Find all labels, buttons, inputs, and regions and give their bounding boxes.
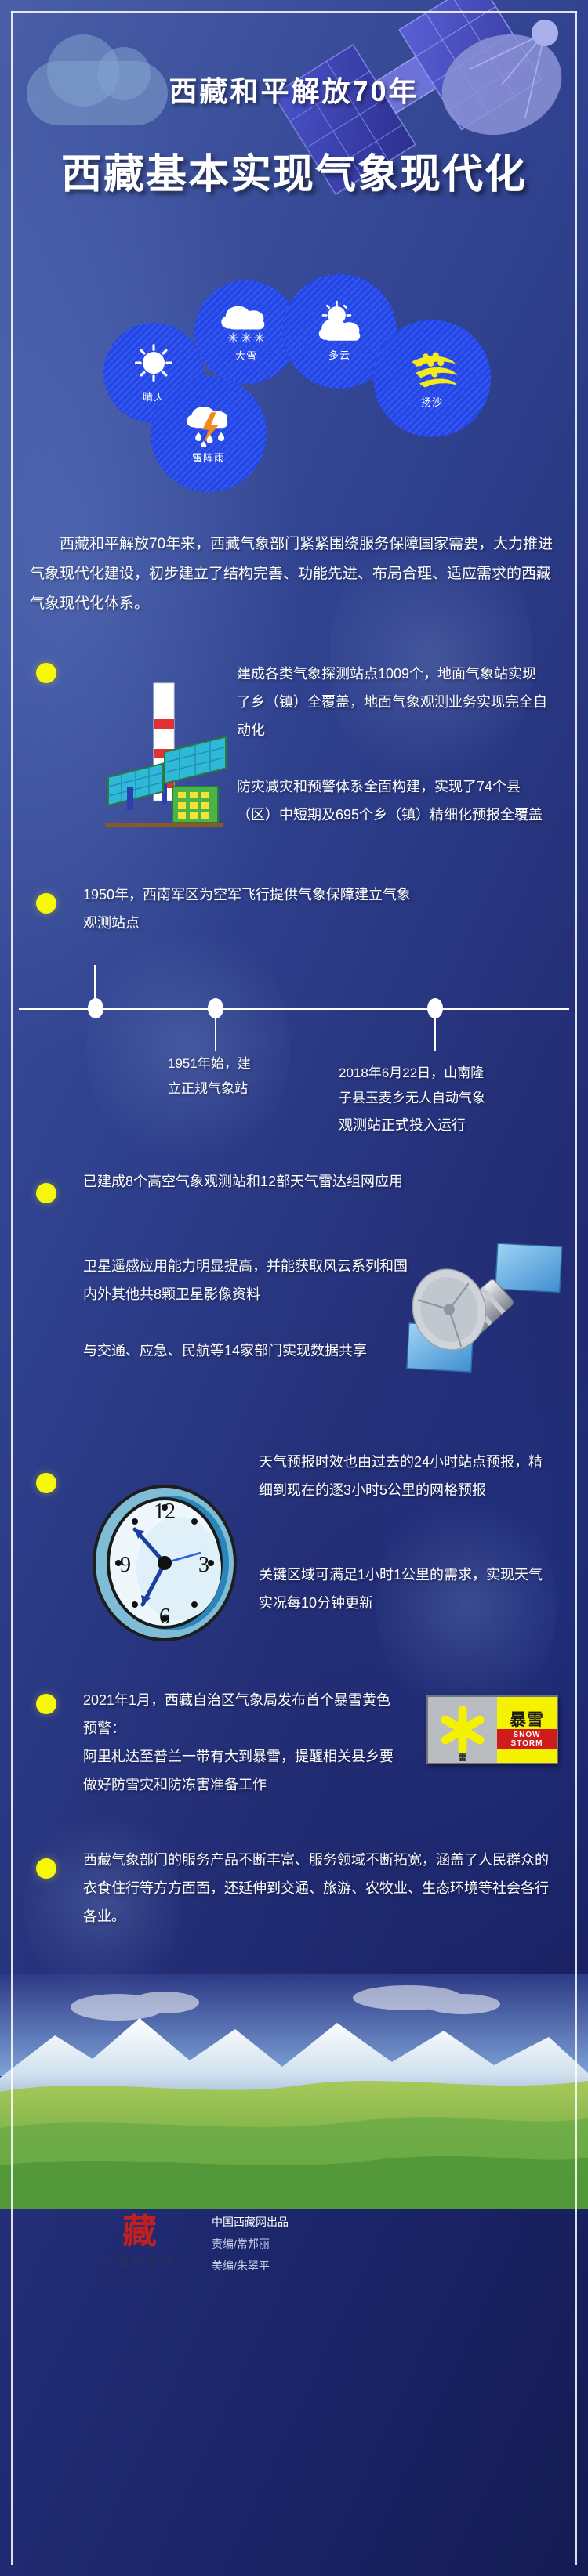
weather-label-thunderstorm: 雷阵雨: [192, 450, 225, 465]
svg-text:12: 12: [154, 1500, 176, 1524]
timeline-note-1951-line2: 立正规气象站: [168, 1076, 301, 1102]
infographic-page: 西藏和平解放70年 西藏基本实现气象现代化 晴天: [0, 0, 588, 2576]
upper-air-paragraph-2: 卫星遥感应用能力明显提高，并能获取风云系列和国内外其他共8颗卫星影像资料: [83, 1252, 412, 1308]
footer-producer: 中国西藏网出品: [212, 2211, 289, 2233]
bullet-icon: [36, 1183, 56, 1203]
hero-title-line1: 西藏和平解放70年: [0, 69, 588, 110]
snow-warning-paragraph-2: 阿里札达至普兰一带有大到暴雪，提醒相关县乡要做好防雪灾和防冻害准备工作: [83, 1742, 397, 1799]
block-snow-warning: 雷 暴雪 SNOW STORM 2021年1月，西藏自治区气象局发布首个暴雪黄色…: [0, 1681, 588, 1830]
logo-chinese-name: 中国西藏网: [88, 2252, 190, 2270]
upper-air-paragraph-1: 已建成8个高空气象观测站和12部天气雷达组网应用: [83, 1167, 412, 1196]
forecast-paragraph-1: 天气预报时效也由过去的24小时站点预报，精细到现在的逐3小时5公里的网格预报: [259, 1448, 554, 1504]
block-forecast-timeliness: 12 3 6 9 天气预报时效也由过去的24小时站点预报，精细到现在的逐3小时5…: [0, 1434, 588, 1669]
clock-illustration-icon: 12 3 6 9: [86, 1481, 243, 1645]
weather-icon-cluster: 晴天 ✳✳✳ 大雪: [0, 266, 588, 525]
block-services: 西藏气象部门的服务产品不断丰富、服务领域不断拓宽，涵盖了人民群众的衣食住行等方方…: [0, 1849, 588, 1966]
logo-mark: 藏: [88, 2214, 190, 2250]
stations-paragraph-1: 建成各类气象探测站点1009个，地面气象站实现了乡（镇）全覆盖，地面气象观测业务…: [237, 660, 550, 744]
snow-warning-text-panel: 暴雪 SNOW STORM: [497, 1697, 557, 1763]
history-paragraph: 1950年，西南军区为空军飞行提供气象保障建立气象观测站点: [83, 881, 412, 937]
timeline: 1951年始，建 立正规气象站 2018年6月22日，山南隆 子县玉麦乡无人自动…: [0, 951, 588, 1116]
timeline-note-1951-line1: 1951年始，建: [168, 1051, 301, 1076]
svg-text:3: 3: [198, 1553, 209, 1577]
snow-warning-foot-label: 雷: [428, 1751, 497, 1763]
upper-air-paragraph-3: 与交通、应急、民航等14家部门实现数据共享: [83, 1337, 412, 1365]
bullet-icon: [36, 893, 56, 914]
weather-icon-blowing-sand: 扬沙: [373, 320, 491, 437]
weather-label-cloudy: 多云: [328, 347, 350, 362]
snow-warning-paragraph-1: 2021年1月，西藏自治区气象局发布首个暴雪黄色预警：: [83, 1686, 397, 1742]
weather-label-blowing-sand: 扬沙: [421, 394, 443, 409]
svg-text:9: 9: [120, 1553, 131, 1577]
cloudy-icon: [282, 301, 397, 345]
snow-warning-symbol: 雷: [428, 1697, 497, 1763]
satellite-illustration-icon: [267, 0, 588, 266]
snow-warning-card: 雷 暴雪 SNOW STORM: [426, 1695, 558, 1764]
timeline-dot-1950: [88, 998, 103, 1018]
intro-paragraph: 西藏和平解放70年来，西藏气象部门紧紧围绕服务保障国家需要，大力推进气象现代化建…: [30, 530, 558, 619]
blowing-sand-icon: [373, 348, 491, 392]
block-stations: 建成各类气象探测站点1009个，地面气象站实现了乡（镇）全覆盖，地面气象观测业务…: [0, 641, 588, 876]
timeline-dot-1951: [208, 998, 223, 1018]
weather-label-heavy-snow: 大雪: [235, 348, 257, 363]
hero-title-line2: 西藏基本实现气象现代化: [0, 141, 588, 200]
footer-credits: 中国西藏网出品 责编/常邦丽 美编/朱翠平: [212, 2211, 289, 2277]
svg-text:✳: ✳: [253, 331, 265, 346]
site-logo: 藏 中国西藏网 www.tibet.cn: [88, 2214, 190, 2281]
timeline-note-2018-line1: 2018年6月22日，山南隆: [339, 1061, 558, 1086]
timeline-note-2018-line3: 观测站正式投入运行: [339, 1111, 558, 1139]
thunderstorm-icon: [151, 403, 267, 447]
tibet-landscape-icon: [0, 1974, 588, 2209]
snowflake-icon: [435, 1702, 490, 1757]
bullet-icon: [36, 1858, 56, 1879]
timeline-dot-2018: [427, 998, 443, 1018]
weather-icon-thunderstorm: 雷阵雨: [151, 376, 267, 492]
bullet-icon: [36, 1694, 56, 1714]
bullet-icon: [36, 1473, 56, 1493]
timeline-note-2018-line2: 子县玉麦乡无人自动气象: [339, 1086, 558, 1111]
stations-paragraph-2: 防灾减灾和预警体系全面构建，实现了74个县（区）中短期及695个乡（镇）精细化预…: [237, 772, 550, 829]
satellite-dish-illustration-icon: [384, 1210, 580, 1406]
footer-designer: 美编/朱翠平: [212, 2255, 289, 2277]
bullet-icon: [36, 663, 56, 683]
svg-text:✳: ✳: [241, 331, 252, 346]
timeline-stem-2018: [434, 1018, 436, 1051]
hero-section: 西藏和平解放70年 西藏基本实现气象现代化: [0, 0, 588, 266]
page-frame-top: [11, 11, 577, 13]
block-history: 1950年，西南军区为空军飞行提供气象保障建立气象观测站点: [0, 876, 588, 951]
weather-station-illustration-icon: [103, 677, 229, 841]
forecast-paragraph-2: 关键区域可满足1小时1公里的需求，实现天气实况每10分钟更新: [259, 1561, 554, 1617]
block-upper-air: 已建成8个高空气象观测站和12部天气雷达组网应用 卫星遥感应用能力明显提高，并能…: [0, 1172, 588, 1431]
landscape-illustration: [0, 1974, 588, 2209]
footer: 藏 中国西藏网 www.tibet.cn 中国西藏网出品 责编/常邦丽 美编/朱…: [0, 2209, 588, 2327]
timeline-stem-1951: [215, 1018, 216, 1051]
snow-warning-en-label: SNOW STORM: [497, 1729, 557, 1749]
svg-text:6: 6: [159, 1605, 170, 1629]
logo-url: www.tibet.cn: [88, 2272, 190, 2281]
svg-text:✳: ✳: [227, 331, 239, 346]
services-paragraph: 西藏气象部门的服务产品不断丰富、服务领域不断拓宽，涵盖了人民群众的衣食住行等方方…: [83, 1846, 554, 1930]
footer-editor: 责编/常邦丽: [212, 2233, 289, 2255]
snow-warning-cn-label: 暴雪: [510, 1711, 544, 1729]
